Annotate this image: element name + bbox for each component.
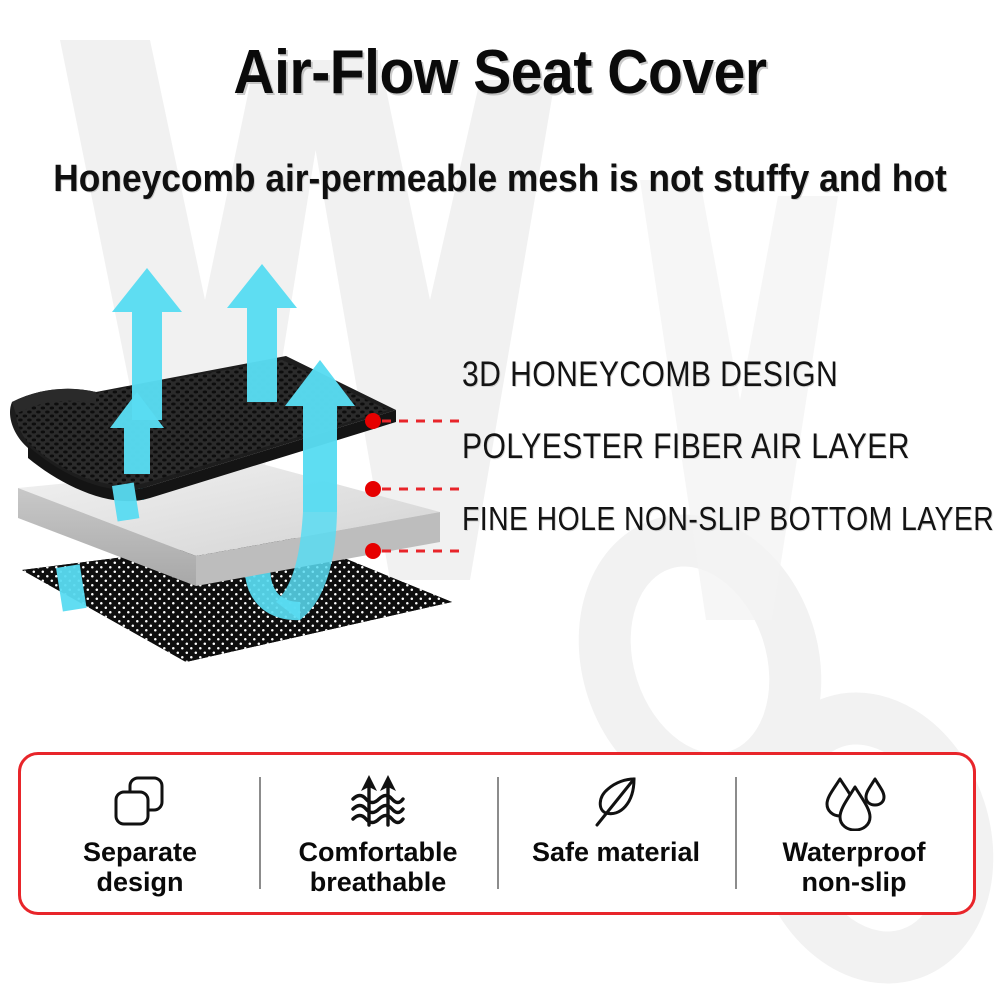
product-infographic: Air-Flow Seat Cover Honeycomb air-permea… xyxy=(0,0,1000,1000)
water-droplets-icon xyxy=(821,771,887,833)
callout-label-nonslip: FINE HOLE NON-SLIP BOTTOM LAYER xyxy=(462,499,994,539)
feature-comfortable-breathable: Comfortable breathable xyxy=(259,755,497,912)
overlapping-squares-icon xyxy=(110,771,170,833)
callout-label-polyester: POLYESTER FIBER AIR LAYER xyxy=(462,427,910,467)
layer-top-honeycomb xyxy=(10,356,396,501)
feature-label-separate-design: Separate design xyxy=(83,837,197,897)
breathable-arrows-icon xyxy=(347,771,409,833)
feature-divider-2 xyxy=(497,777,499,889)
leaf-icon xyxy=(588,771,644,833)
feature-label-safe-material: Safe material xyxy=(532,837,700,867)
feature-safe-material: Safe material xyxy=(497,755,735,912)
page-subtitle: Honeycomb air-permeable mesh is not stuf… xyxy=(35,156,965,202)
feature-divider-3 xyxy=(735,777,737,889)
callout-label-group: 3D HONEYCOMB DESIGN POLYESTER FIBER AIR … xyxy=(462,355,1000,570)
feature-bar: Separate design Comfortable breatha xyxy=(18,752,976,915)
page-title: Air-Flow Seat Cover xyxy=(40,38,960,108)
feature-label-waterproof-nonslip: Waterproof non-slip xyxy=(783,837,926,897)
feature-separate-design: Separate design xyxy=(21,755,259,912)
feature-label-comfortable-breathable: Comfortable breathable xyxy=(298,837,457,897)
callout-label-honeycomb: 3D HONEYCOMB DESIGN xyxy=(462,355,838,395)
feature-divider-1 xyxy=(259,777,261,889)
exploded-layer-illustration xyxy=(0,250,470,670)
feature-waterproof-nonslip: Waterproof non-slip xyxy=(735,755,973,912)
